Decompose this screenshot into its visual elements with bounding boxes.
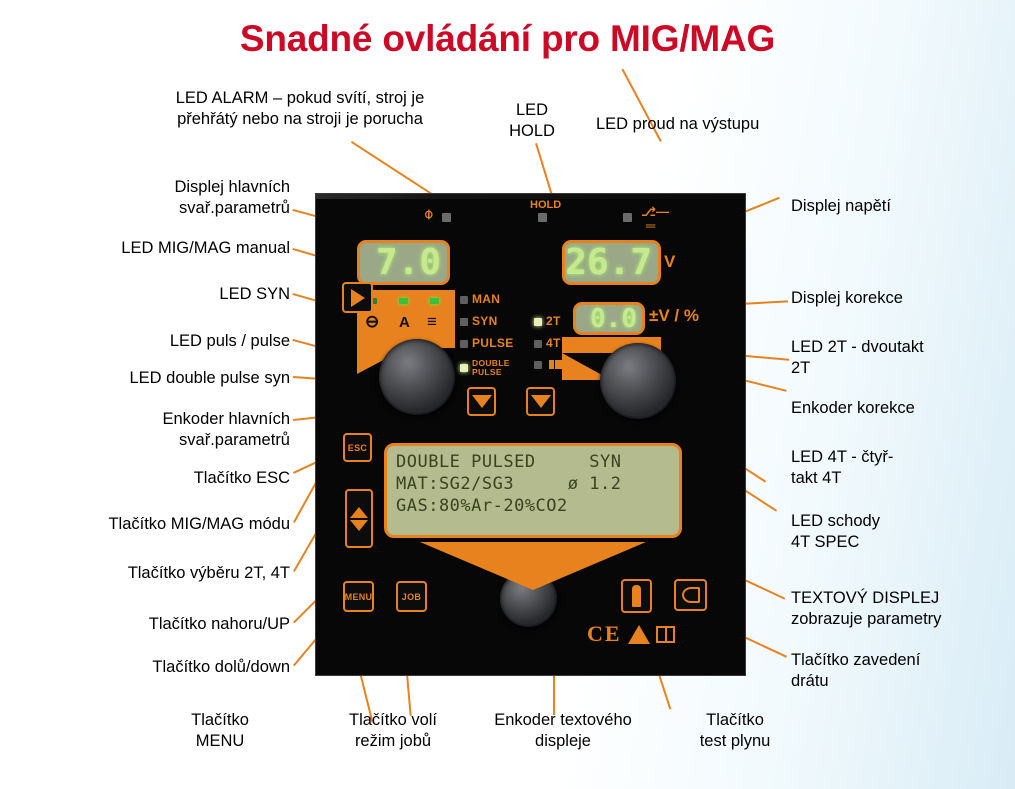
decorative-funnel-shape <box>420 542 646 590</box>
callout-encoder-main: Enkoder hlavních svař.parametrů <box>40 409 290 451</box>
stairs-icon <box>546 360 566 369</box>
callout-button-gas-test: Tlačítko test plynu <box>665 710 805 752</box>
gas-test-button[interactable] <box>621 579 652 613</box>
led-2t-indicator <box>534 318 542 326</box>
led-man-label: MAN <box>472 294 500 305</box>
callout-led-output-current: LED proud na výstupu <box>596 114 826 135</box>
callout-led-2t: LED 2T - dvoutakt 2T <box>791 337 1006 379</box>
correction-unit-label: ±V / % <box>649 306 699 326</box>
callout-led-syn: LED SYN <box>40 284 290 305</box>
wire-feed-icon <box>682 587 700 603</box>
led-row-syn: SYN <box>460 316 498 327</box>
migmag-mode-button[interactable] <box>342 282 373 313</box>
callout-led-stairs: LED schody 4T SPEC <box>791 511 1006 553</box>
callout-led-4t: LED 4T - čtyř- takt 4T <box>791 447 1006 489</box>
led-amps <box>399 298 408 304</box>
callout-encoder-text-display: Enkoder textového displeje <box>473 710 653 752</box>
gas-bottle-icon <box>632 585 641 607</box>
callout-led-pulse: LED puls / pulse <box>40 331 290 352</box>
voltage-display: 26.7 <box>562 240 661 285</box>
arrow-up-icon <box>350 507 368 518</box>
wire-feed-button[interactable] <box>674 579 707 611</box>
callout-button-job: Tlačítko volí režim jobů <box>313 710 473 752</box>
slide-canvas: Snadné ovládání pro MIG/MAG ⌽ HOLD ⎇— ═ … <box>0 0 1015 789</box>
callout-correction-display: Displej korekce <box>791 288 1006 309</box>
led-stairs-indicator <box>534 361 542 369</box>
lcd-line-3: GAS:80%Ar-20%CO2 <box>396 495 672 517</box>
led-alarm-indicator <box>442 213 451 222</box>
led-syn-label: SYN <box>472 316 498 327</box>
led-syn-indicator <box>460 318 468 326</box>
wire-speed-icon: ⊖ <box>365 312 379 332</box>
callout-button-migmag-mode: Tlačítko MIG/MAG módu <box>20 514 290 535</box>
lcd-line-2: MAT:SG2/SG3 ø 1.2 <box>396 473 672 495</box>
led-row-stairs <box>534 360 566 369</box>
led-pulse-indicator <box>460 340 468 348</box>
callout-button-menu: Tlačítko MENU <box>150 710 290 752</box>
callout-encoder-correction: Enkoder korekce <box>791 398 1006 419</box>
ce-mark-label: CE <box>587 621 622 647</box>
callout-led-hold: LED HOLD <box>492 100 572 142</box>
hold-label: HOLD <box>530 199 561 211</box>
text-lcd-display: DOUBLE PULSED SYNMAT:SG2/SG3 ø 1.2GAS:80… <box>384 443 682 538</box>
callout-button-wire-feed: Tlačítko zavedení drátu <box>791 650 1006 692</box>
callout-led-double-pulse: LED double pulse syn <box>40 368 290 389</box>
led-double-pulse-label: DOUBLE PULSE <box>472 359 510 377</box>
manual-book-icon <box>656 626 675 643</box>
welder-control-panel: ⌽ HOLD ⎇— ═ 7.0 ⊖ A ≡ 26.7 V 0.0 ±V / % … <box>316 194 745 675</box>
main-parameter-display: 7.0 <box>357 240 450 285</box>
callout-text-display: TEXTOVÝ DISPLEJ zobrazuje parametry <box>791 588 1006 630</box>
led-row-2t: 2T <box>534 316 561 327</box>
callout-led-alarm: LED ALARM – pokud svítí, stroj je přehřá… <box>125 88 475 130</box>
certification-marks: CE <box>587 621 675 647</box>
led-output-current-indicator <box>623 213 632 222</box>
led-double-pulse-indicator <box>460 364 468 372</box>
up-down-button[interactable] <box>345 489 373 548</box>
led-4t-label: 4T <box>546 338 561 349</box>
arrow-down-icon <box>472 395 492 408</box>
correction-display: 0.0 <box>573 302 645 335</box>
alarm-icon: ⌽ <box>424 206 434 224</box>
callout-button-esc: Tlačítko ESC <box>40 468 290 489</box>
esc-button[interactable]: ESC <box>343 433 372 462</box>
callout-button-2t-4t: Tlačítko výběru 2T, 4T <box>30 563 290 584</box>
page-title: Snadné ovládání pro MIG/MAG <box>0 18 1015 60</box>
mode-select-down-button[interactable] <box>467 387 496 416</box>
arrow-down-icon <box>350 520 368 531</box>
thickness-icon: ≡ <box>427 312 437 332</box>
led-row-double-pulse: DOUBLE PULSE <box>460 359 510 377</box>
main-parameter-encoder-knob[interactable] <box>379 339 455 415</box>
callout-button-up: Tlačítko nahoru/UP <box>40 614 290 635</box>
correction-encoder-knob[interactable] <box>600 343 676 419</box>
arrow-down-icon <box>531 395 551 408</box>
menu-button[interactable]: MENU <box>343 581 374 612</box>
warning-triangle-icon <box>628 625 650 644</box>
led-2t-label: 2T <box>546 316 561 327</box>
play-triangle-icon <box>351 289 365 307</box>
led-row-pulse: PULSE <box>460 338 514 349</box>
output-ground-icon: ═ <box>646 218 655 233</box>
led-pulse-label: PULSE <box>472 338 514 349</box>
callout-main-weld-display: Displej hlavních svař.parametrů <box>40 177 290 219</box>
amps-icon: A <box>399 314 410 331</box>
callout-button-down: Tlačítko dolů/down <box>40 657 290 678</box>
lcd-line-1: DOUBLE PULSED SYN <box>396 451 672 473</box>
job-button[interactable]: JOB <box>396 581 427 612</box>
led-row-man: MAN <box>460 294 500 305</box>
voltage-unit-label: V <box>664 252 675 272</box>
led-hold-indicator <box>538 213 547 222</box>
2t4t-select-button[interactable] <box>526 387 555 416</box>
callout-voltage-display: Displej napětí <box>791 196 1006 217</box>
led-4t-indicator <box>534 340 542 348</box>
led-thickness <box>430 298 439 304</box>
led-row-4t: 4T <box>534 338 561 349</box>
callout-led-migmag-manual: LED MIG/MAG manual <box>40 238 290 259</box>
led-man-indicator <box>460 296 468 304</box>
